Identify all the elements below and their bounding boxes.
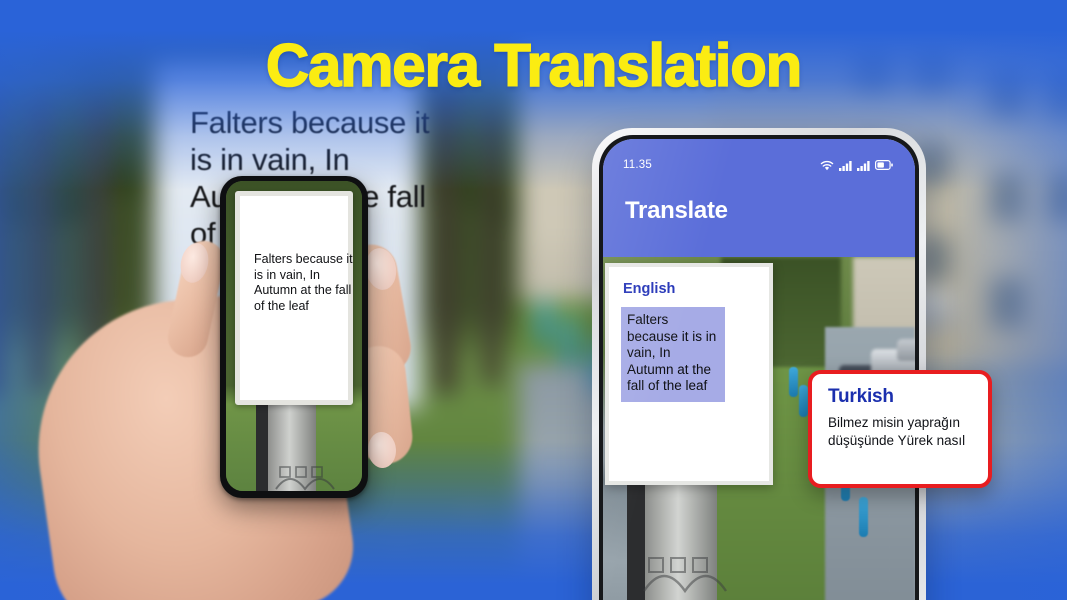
left-phone-frame: Falters because it is in vain, In Autumn… [220, 176, 368, 498]
target-language-label: Turkish [828, 386, 974, 408]
source-text-highlight[interactable]: Falters because it is in vain, In Autumn… [621, 307, 725, 402]
source-text-billboard: English Falters because it is in vain, I… [605, 263, 773, 485]
promo-title: Camera Translation [0, 34, 1067, 98]
left-camera-billboard: Falters because it is in vain, In Autumn… [235, 191, 353, 405]
right-phone-bezel: 11.35 [599, 135, 919, 600]
source-language-label: English [623, 281, 675, 297]
battery-icon [875, 160, 893, 170]
status-bar: 11.35 [603, 159, 915, 171]
left-phone-mockup: Falters because it is in vain, In Autumn… [220, 176, 368, 498]
status-bar-clock: 11.35 [623, 159, 652, 171]
app-header: 11.35 [603, 139, 915, 257]
left-phone-screen: Falters because it is in vain, In Autumn… [226, 181, 362, 491]
signal-icon [839, 160, 852, 171]
app-title: Translate [625, 197, 728, 225]
translated-text: Bilmez misin yaprağın düşüşünde Yürek na… [828, 414, 974, 449]
signal-icon [857, 160, 870, 171]
fence-ornament-icon [274, 463, 336, 491]
promo-canvas: Falters because it is in vain, In Autumn… [0, 0, 1067, 600]
wifi-icon [820, 160, 834, 171]
fence-ornament-icon [641, 553, 729, 595]
translation-result-card[interactable]: Turkish Bilmez misin yaprağın düşüşünde … [808, 370, 992, 488]
right-phone-mockup: 11.35 [592, 128, 926, 600]
left-camera-billboard-text: Falters because it is in vain, In Autumn… [254, 252, 354, 314]
status-bar-icons [820, 160, 893, 171]
